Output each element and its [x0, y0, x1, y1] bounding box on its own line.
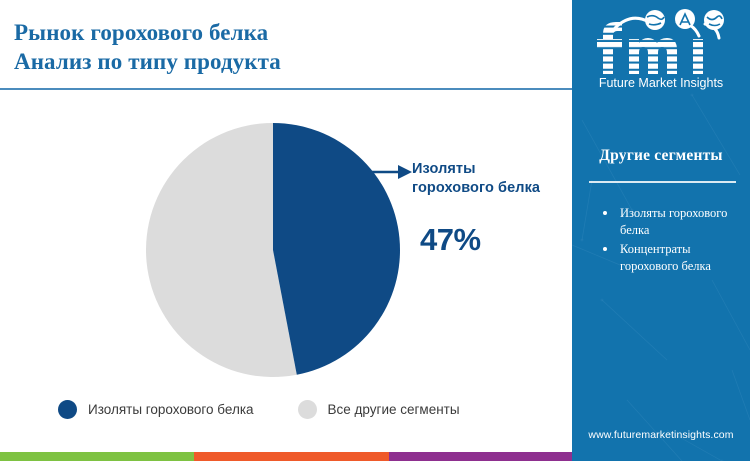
infographic-slide: Рынок горохового белка Анализ по типу пр… [0, 0, 750, 461]
list-item-label: Концентраты горохового белка [620, 242, 711, 273]
side-panel-heading: Другие сегменты [572, 147, 750, 165]
legend-swatch-icon [298, 400, 317, 419]
chart-legend: Изоляты горохового белка Все другие сегм… [58, 400, 558, 419]
callout-percentage-value: 47% [420, 222, 481, 258]
callout-label-line-1: Изоляты [412, 161, 476, 177]
legend-item-isolates[interactable]: Изоляты горохового белка [58, 400, 254, 419]
color-bar-purple-segment [389, 452, 572, 461]
page-title-line-2: Анализ по типу продукта [14, 47, 554, 76]
bullet-icon [603, 211, 607, 215]
website-url[interactable]: www.futuremarketinsights.com [572, 429, 750, 441]
legend-swatch-icon [58, 400, 77, 419]
color-bar-orange-segment [194, 452, 388, 461]
bullet-icon [603, 247, 607, 251]
pie-chart [145, 122, 401, 378]
list-item: Концентраты горохового белка [598, 241, 748, 275]
callout-label-line-2: горохового белка [412, 179, 572, 198]
legend-item-other-segments[interactable]: Все другие сегменты [298, 400, 460, 419]
legend-label: Все другие сегменты [328, 402, 460, 417]
other-segments-list: Изоляты горохового белка Концентраты гор… [598, 205, 748, 277]
legend-label: Изоляты горохового белка [88, 402, 254, 417]
callout-label: Изоляты горохового белка [412, 160, 572, 198]
fmi-logo-tagline: Future Market Insights [599, 76, 723, 90]
pie-chart-svg [145, 122, 401, 378]
side-panel-divider [589, 181, 736, 183]
header-divider [0, 88, 572, 90]
list-item-label: Изоляты горохового белка [620, 206, 727, 237]
page-title-line-1: Рынок горохового белка [14, 20, 268, 45]
fmi-logo: Future Market Insights [572, 6, 750, 92]
color-bar-green-segment [0, 452, 194, 461]
list-item: Изоляты горохового белка [598, 205, 748, 239]
page-title: Рынок горохового белка Анализ по типу пр… [14, 18, 554, 76]
callout-arrow-icon [372, 160, 412, 184]
bottom-color-bar [0, 452, 572, 461]
fmi-logo-icon: Future Market Insights [581, 6, 741, 90]
